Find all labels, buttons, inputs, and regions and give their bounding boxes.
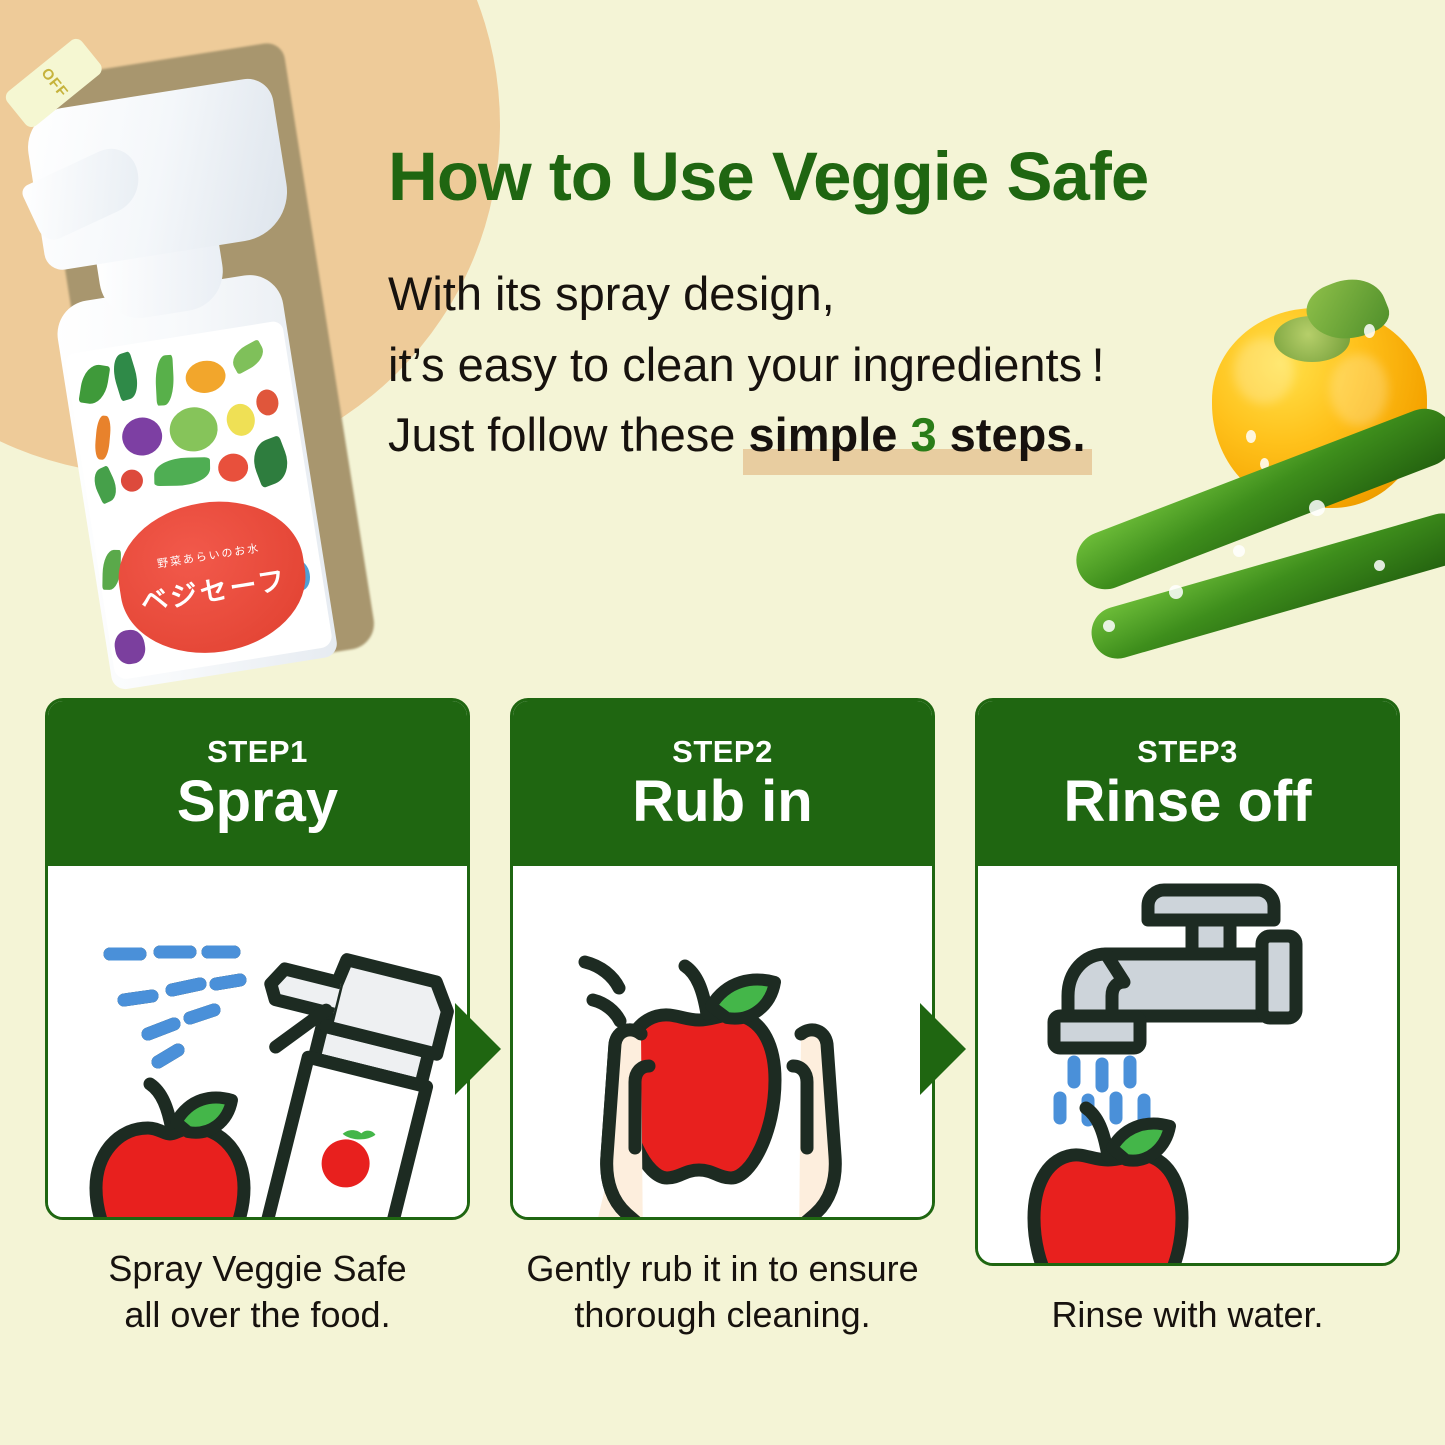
- faucet: [1054, 890, 1296, 1048]
- page-title: How to Use Veggie Safe: [388, 142, 1398, 211]
- label-veg-tomato: [254, 388, 280, 417]
- step-card-1[interactable]: STEP1 Spray: [45, 698, 470, 1220]
- step-number-2: STEP2: [672, 734, 773, 770]
- step-caption-3-line1: Rinse with water.: [1051, 1292, 1323, 1338]
- right-arrow-icon: [455, 1003, 501, 1095]
- product-bottle-image: OFF 野菜あらいのお水 ベジセーフ: [10, 25, 380, 685]
- water-droplet: [1103, 620, 1115, 632]
- headline-block: How to Use Veggie Safe With its spray de…: [388, 142, 1398, 471]
- apple-body: [96, 1128, 244, 1220]
- label-veg-carrot: [94, 415, 112, 460]
- apple-leaf: [711, 980, 775, 1019]
- step-number-3: STEP3: [1137, 734, 1238, 770]
- subtitle-line-2: it’s easy to clean your ingredients !: [388, 330, 1398, 401]
- right-arrow-icon: [920, 1003, 966, 1095]
- label-veg-lemon: [224, 402, 257, 438]
- subtitle-prefix: Just follow these: [388, 408, 749, 461]
- label-veg-grape: [119, 415, 164, 459]
- steps-row: STEP1 Spray: [0, 698, 1445, 1338]
- label-veg-leaf: [89, 465, 121, 504]
- step-number-1: STEP1: [207, 734, 308, 770]
- water-droplet: [1169, 585, 1183, 599]
- step-title-1: Spray: [177, 772, 338, 833]
- step-caption-1-line1: Spray Veggie Safe: [108, 1246, 406, 1292]
- subtitle-highlight: simple 3 steps.: [749, 400, 1086, 471]
- highlight-number: 3: [910, 408, 936, 461]
- step-card-header-3: STEP3 Rinse off: [978, 701, 1397, 866]
- apple-leaf: [176, 1098, 232, 1133]
- step-illustration-2: [513, 866, 932, 1220]
- subtitle-line-3: Just follow these simple 3 steps.: [388, 400, 1398, 471]
- label-veg-leaf: [108, 351, 142, 401]
- label-veg-leaf: [78, 363, 110, 407]
- spray-bottle-graphic: OFF 野菜あらいのお水 ベジセーフ: [0, 15, 388, 694]
- apple-stem: [685, 966, 707, 1014]
- step-card-2[interactable]: STEP2 Rub in: [510, 698, 935, 1220]
- step-caption-3: Rinse with water.: [1051, 1292, 1323, 1338]
- step-card-header-1: STEP1 Spray: [48, 701, 467, 866]
- right-thumb: [793, 1066, 807, 1148]
- hands-rubbing-apple-icon: [513, 866, 933, 1220]
- motion-lines: [585, 962, 620, 1021]
- step-column-1: STEP1 Spray: [45, 698, 470, 1338]
- step-caption-2: Gently rub it in to ensure thorough clea…: [526, 1246, 918, 1338]
- step-title-2: Rub in: [632, 772, 812, 833]
- water-droplet: [1233, 545, 1245, 557]
- step-caption-2-line1: Gently rub it in to ensure: [526, 1246, 918, 1292]
- label-veg-leaf: [154, 355, 175, 406]
- step-illustration-1: [48, 866, 467, 1220]
- step-card-3[interactable]: STEP3 Rinse off: [975, 698, 1400, 1266]
- step-column-3: STEP3 Rinse off: [975, 698, 1400, 1338]
- water-droplet: [1309, 500, 1325, 516]
- faucet-rinsing-apple-icon: [978, 866, 1398, 1266]
- step-title-3: Rinse off: [1063, 772, 1311, 833]
- label-veg-leaf: [228, 339, 268, 375]
- step-card-header-2: STEP2 Rub in: [513, 701, 932, 866]
- step-caption-1-line2: all over the food.: [108, 1292, 406, 1338]
- spray-bottle-and-apple-icon: [48, 866, 468, 1220]
- step-column-2: STEP2 Rub in: [510, 698, 935, 1338]
- water-stream: [1060, 1062, 1144, 1120]
- highlight-word-steps: steps.: [937, 408, 1086, 461]
- subtitle-line-1: With its spray design,: [388, 259, 1398, 330]
- water-droplet: [1374, 560, 1385, 571]
- step-illustration-3: [978, 866, 1397, 1266]
- label-veg-apple: [216, 451, 250, 483]
- label-veg-leaf: [247, 435, 295, 488]
- apple-stem: [1086, 1108, 1108, 1156]
- label-veg-leaf: [154, 457, 210, 486]
- trigger-lock-label: OFF: [37, 65, 71, 101]
- label-veg-orange: [183, 358, 228, 396]
- label-veg-cabbage: [167, 404, 221, 455]
- apple-body: [623, 1015, 775, 1178]
- apple-body: [1034, 1155, 1182, 1266]
- highlight-word-simple: simple: [749, 408, 911, 461]
- label-veg-berry: [119, 468, 144, 493]
- step-caption-2-line2: thorough cleaning.: [526, 1292, 918, 1338]
- step-caption-1: Spray Veggie Safe all over the food.: [108, 1246, 406, 1338]
